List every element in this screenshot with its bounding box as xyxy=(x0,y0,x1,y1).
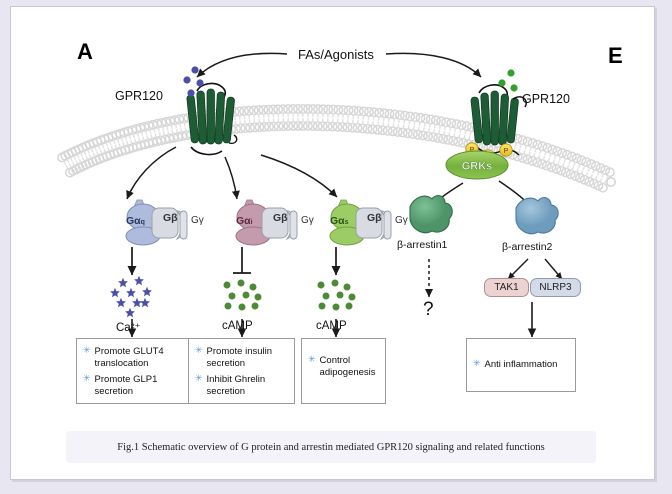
receptor-right-label: GPR120 xyxy=(522,92,570,106)
effector-label-2: cAMP xyxy=(222,320,253,332)
list-item: ✳ Anti inflammation xyxy=(473,359,569,371)
bullet-icon: ✳ xyxy=(195,346,203,355)
page-background: P P P GRKs xyxy=(0,0,672,494)
phosphate-label-3: P xyxy=(504,148,509,155)
g-protein-2-inhibit-arrow xyxy=(233,247,251,273)
g-protein-3-beta-label: Gβ xyxy=(367,212,382,224)
list-item: ✳ Inhibit Ghrelin secretion xyxy=(195,374,288,397)
grks-label: GRKs xyxy=(462,161,493,173)
beta-arrestin1-label: β-arrestin1 xyxy=(397,239,447,251)
beta-arrestin1-glyph xyxy=(410,196,452,233)
receptor-left-label: GPR120 xyxy=(115,89,163,103)
g-protein-1-gamma-label: Gγ xyxy=(191,215,204,226)
grks-node: GRKs xyxy=(446,151,508,179)
figure-caption-text: Fig.1 Schematic overview of G protein an… xyxy=(117,442,544,453)
outcome-box-3: ✳ Control adipogenesis xyxy=(301,338,386,404)
camp-dots-2 xyxy=(224,280,262,311)
effector-label-1: Ca²⁺ xyxy=(116,320,141,334)
ligand-dots-right xyxy=(498,69,517,91)
list-item: ✳ Promote GLP1 secretion xyxy=(83,374,182,397)
outcome-box-1: ✳ Promote GLUT4 translocation ✳ Promote … xyxy=(76,338,189,404)
bullet-icon: ✳ xyxy=(308,355,316,364)
panel-letter-a: A xyxy=(77,39,93,65)
effector-label-3: cAMP xyxy=(316,320,347,332)
arrestin2-branch-arrows xyxy=(508,259,562,279)
beta-arrestin2-label: β-arrestin2 xyxy=(502,241,552,253)
list-item: ✳ Promote GLUT4 translocation xyxy=(83,346,182,369)
bullet-icon: ✳ xyxy=(83,346,91,355)
plasma-membrane xyxy=(58,105,615,192)
g-protein-2-beta-label: Gβ xyxy=(273,212,288,224)
g-protein-3-gamma-label: Gγ xyxy=(395,215,408,226)
g-protein-1-beta-label: Gβ xyxy=(163,212,178,224)
g-protein-2-gamma-label: Gγ xyxy=(301,215,314,226)
node-tak1: TAK1 xyxy=(484,278,529,297)
beta-arrestin2-glyph xyxy=(516,198,558,234)
g-protein-3-alpha-label: Gαs xyxy=(330,211,349,229)
figure-canvas: P P P GRKs xyxy=(11,7,654,479)
calcium-stars xyxy=(110,276,152,317)
panel-letter-e: E xyxy=(608,43,623,69)
camp-dots-3 xyxy=(318,280,356,311)
ligand-label: FAs/Agonists xyxy=(298,47,374,62)
node-nlrp3: NLRP3 xyxy=(530,278,581,297)
bullet-icon: ✳ xyxy=(473,359,481,368)
outcome-box-4: ✳ Anti inflammation xyxy=(466,338,576,392)
figure-caption: Fig.1 Schematic overview of G protein an… xyxy=(66,431,596,463)
receptor-right-glyph xyxy=(471,85,527,155)
list-item: ✳ Control adipogenesis xyxy=(308,355,379,378)
outcome-box-2: ✳ Promote insulin secretion ✳ Inhibit Gh… xyxy=(188,338,295,404)
figure-sheet: P P P GRKs xyxy=(10,6,655,480)
list-item: ✳ Promote insulin secretion xyxy=(195,346,288,369)
bullet-icon: ✳ xyxy=(83,374,91,383)
unknown-downstream-label: ? xyxy=(423,299,434,321)
g-protein-2-alpha-label: Gαi xyxy=(236,211,253,229)
bullet-icon: ✳ xyxy=(195,374,203,383)
g-protein-1-alpha-label: Gαq xyxy=(126,211,145,229)
